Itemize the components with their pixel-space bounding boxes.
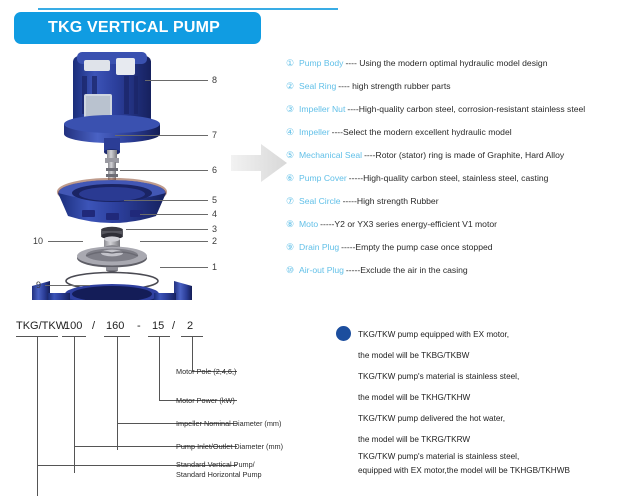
note-line: equipped with EX motor,the model will be… — [336, 464, 617, 478]
model-code-inlet: 100 — [64, 320, 82, 332]
legend-number: ② — [286, 81, 299, 92]
note-line: the model will be TKHG/TKHW — [336, 387, 617, 408]
note-line: TKG/TKW pump's material is stainless ste… — [336, 366, 617, 387]
legend-number: ⑧ — [286, 219, 299, 230]
bullet-dot-icon — [336, 326, 351, 341]
legend-item: ⑩ Air-out Plug -----Exclude the air in t… — [286, 265, 617, 288]
callout-label-1: 1 — [212, 263, 217, 272]
note-line: TKG/TKW pump delivered the hot water, — [336, 408, 617, 429]
callout-leader-2 — [140, 241, 208, 242]
label-standard-vertical: Standard Vertical Pump/ — [176, 460, 255, 471]
callout-leader-9 — [45, 285, 90, 286]
model-code-power: 15 — [152, 320, 164, 332]
callout-label-4: 4 — [212, 210, 217, 219]
model-variant-notes: TKG/TKW pump equipped with EX motor, the… — [336, 324, 617, 478]
model-code-impeller: 160 — [106, 320, 124, 332]
legend-number: ⑥ — [286, 173, 299, 184]
legend-number: ⑦ — [286, 196, 299, 207]
legend-number: ⑨ — [286, 242, 299, 253]
callout-leader-10 — [48, 241, 83, 242]
legend-number: ⑤ — [286, 150, 299, 161]
legend-part-desc: -----High strength Rubber — [343, 196, 439, 206]
note-line: TKG/TKW pump equipped with EX motor, — [336, 324, 617, 345]
note-line: TKG/TKW pump's material is stainless ste… — [336, 450, 617, 464]
model-code-slash-2: / — [172, 320, 175, 332]
legend-part-desc: ---- Using the modern optimal hydraulic … — [345, 58, 547, 68]
exploded-pump-illustration — [20, 50, 235, 300]
callout-label-5: 5 — [212, 196, 217, 205]
legend-part-name: Seal Ring — [299, 81, 336, 91]
callout-leader-1 — [160, 267, 208, 268]
top-accent-line — [38, 8, 338, 10]
model-code-breakdown: TKG/TKW 100 / 160 - 15 / 2 Motor Pole (2… — [0, 310, 330, 500]
legend-number: ⑩ — [286, 265, 299, 276]
legend-number: ④ — [286, 127, 299, 138]
legend-part-desc: ----Rotor (stator) ring is made of Graph… — [364, 150, 564, 160]
legend-part-desc: ---- high strength rubber parts — [338, 81, 450, 91]
note-line: the model will be TKBG/TKBW — [336, 345, 617, 366]
callout-label-7: 7 — [212, 131, 217, 140]
legend-item: ① Pump Body ---- Using the modern optima… — [286, 58, 617, 81]
label-motor-power: Motor Power (kW) — [176, 396, 235, 407]
callout-label-3: 3 — [212, 225, 217, 234]
model-code-prefix: TKG/TKW — [16, 320, 66, 332]
legend-item: ⑦ Seal Circle -----High strength Rubber — [286, 196, 617, 219]
legend-part-desc: -----Exclude the air in the casing — [346, 265, 468, 275]
legend-number: ③ — [286, 104, 299, 115]
legend-part-desc: -----Y2 or YX3 series energy-efficient V… — [320, 219, 497, 229]
callout-label-9: 9 — [36, 281, 41, 290]
legend-part-desc: ----Select the modern excellent hydrauli… — [332, 127, 512, 137]
legend-item: ④ Impeller ----Select the modern excelle… — [286, 127, 617, 150]
callout-leader-8 — [145, 80, 208, 81]
callout-leader-3 — [126, 229, 208, 230]
legend-part-name: Seal Circle — [299, 196, 341, 206]
legend-item: ⑨ Drain Plug -----Empty the pump case on… — [286, 242, 617, 265]
callout-leader-5 — [124, 200, 208, 201]
legend-part-desc: -----High-quality carbon steel, stainles… — [349, 173, 549, 183]
label-motor-pole: Motor Pole (2,4,6,) — [176, 367, 236, 378]
legend-item: ⑧ Moto -----Y2 or YX3 series energy-effi… — [286, 219, 617, 242]
label-impeller-diameter: Impeller Nominal Diameter (mm) — [176, 419, 281, 430]
page-title: TKG VERTICAL PUMP — [14, 19, 220, 37]
code-drop-impeller — [117, 336, 118, 450]
legend-part-name: Pump Cover — [299, 173, 347, 183]
code-drop-inlet — [74, 336, 75, 473]
model-code-pole: 2 — [187, 320, 193, 332]
model-code-dash: - — [137, 320, 141, 332]
legend-part-name: Impeller — [299, 127, 330, 137]
legend-item: ⑥ Pump Cover -----High-quality carbon st… — [286, 173, 617, 196]
callout-label-10: 10 — [33, 237, 43, 246]
label-standard-horizontal: Standard Horizontal Pump — [176, 470, 262, 481]
legend-item: ③ Impeller Nut ----High-quality carbon s… — [286, 104, 617, 127]
callout-leader-6 — [120, 170, 208, 171]
legend-part-name: Impeller Nut — [299, 104, 345, 114]
callout-label-6: 6 — [212, 166, 217, 175]
legend-part-name: Moto — [299, 219, 318, 229]
right-arrow-icon — [231, 142, 287, 184]
page-title-pill: TKG VERTICAL PUMP — [14, 12, 261, 44]
code-drop-power — [159, 336, 160, 401]
product-spec-page: TKG VERTICAL PUMP — [0, 0, 617, 500]
callout-label-8: 8 — [212, 76, 217, 85]
code-drop-prefix — [37, 336, 38, 496]
parts-legend-list: ① Pump Body ---- Using the modern optima… — [286, 58, 617, 288]
model-code-slash-1: / — [92, 320, 95, 332]
callout-leader-7 — [115, 135, 208, 136]
label-inlet-diameter: Pump Inlet/Outlet Diameter (mm) — [176, 442, 283, 453]
legend-number: ① — [286, 58, 299, 69]
legend-part-name: Drain Plug — [299, 242, 339, 252]
legend-item: ② Seal Ring ---- high strength rubber pa… — [286, 81, 617, 104]
legend-part-name: Air-out Plug — [299, 265, 344, 275]
legend-part-desc: -----Empty the pump case once stopped — [341, 242, 492, 252]
note-line: the model will be TKRG/TKRW — [336, 429, 617, 450]
legend-part-desc: ----High-quality carbon steel, corrosion… — [347, 104, 585, 114]
legend-item: ⑤ Mechanical Seal ----Rotor (stator) rin… — [286, 150, 617, 173]
legend-part-name: Mechanical Seal — [299, 150, 362, 160]
legend-part-name: Pump Body — [299, 58, 343, 68]
callout-label-2: 2 — [212, 237, 217, 246]
callout-leader-4 — [140, 214, 208, 215]
